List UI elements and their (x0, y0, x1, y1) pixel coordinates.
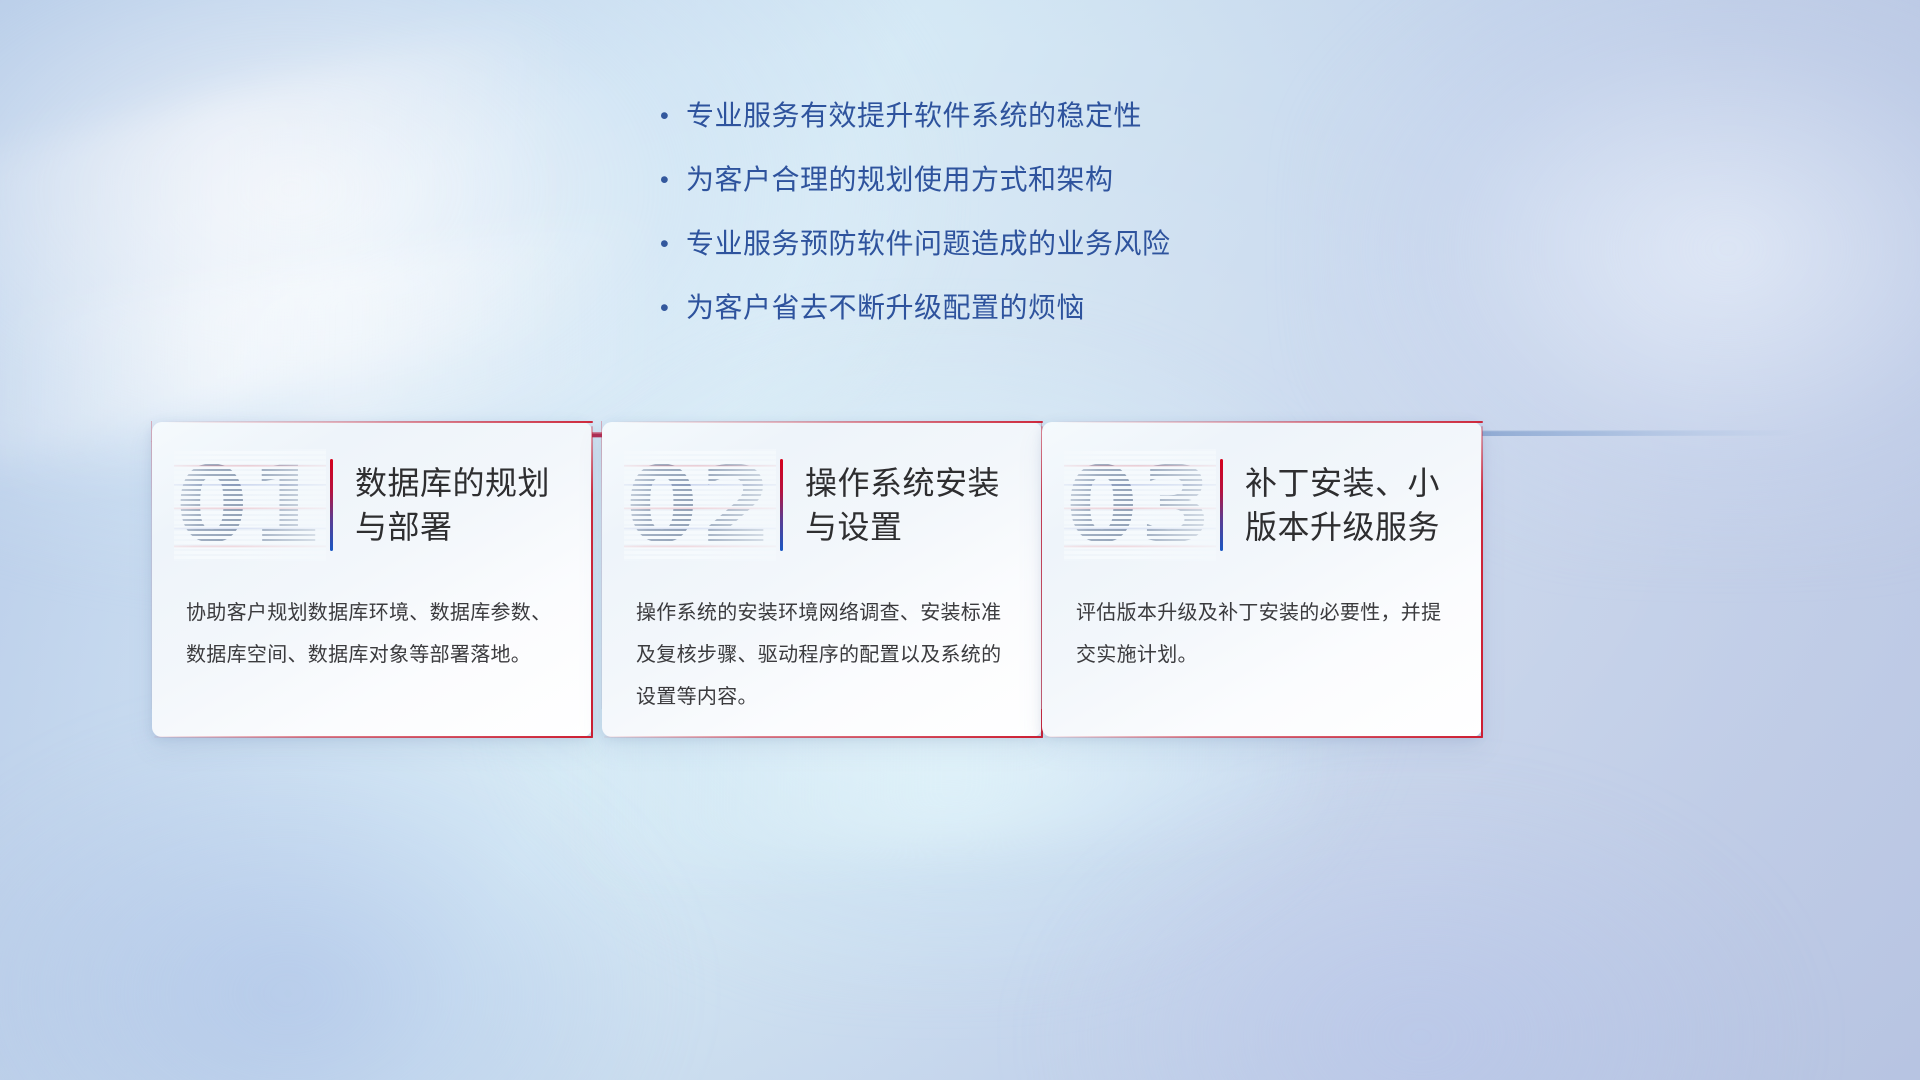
bullet-point-icon: • (660, 226, 686, 262)
card-title: 数据库的规划与部署 (355, 461, 592, 549)
card-title-accent-bar (330, 459, 333, 551)
card-description: 协助客户规划数据库环境、数据库参数、数据库空间、数据库对象等部署落地。 (186, 592, 564, 676)
card-title: 补丁安装、小版本升级服务 (1245, 461, 1482, 549)
card-title-accent-bar (780, 459, 783, 551)
card-border-bottom (1044, 736, 1483, 738)
bullet-point-icon: • (660, 98, 686, 134)
list-item: • 为客户合理的规划使用方式和架构 (660, 162, 1420, 214)
card-border-bottom (604, 736, 1043, 738)
card-description: 评估版本升级及补丁安装的必要性，并提交实施计划。 (1076, 592, 1454, 676)
card-header: 03 补丁安装、小版本升级服务 (1042, 440, 1482, 570)
card-number-badge: 02 (624, 449, 776, 561)
list-item: • 专业服务有效提升软件系统的稳定性 (660, 98, 1420, 150)
list-item: • 专业服务预防软件问题造成的业务风险 (660, 226, 1420, 278)
bullet-point-icon: • (660, 290, 686, 326)
card-header: 02 操作系统安装与设置 (602, 440, 1042, 570)
service-card[interactable]: 01 数据库的规划与部署 协助客户规划数据库环境、数据库参数、数据库空间、数据库… (152, 422, 592, 737)
benefits-bullet-list: • 专业服务有效提升软件系统的稳定性 • 为客户合理的规划使用方式和架构 • 专… (660, 98, 1420, 354)
card-border-top (1052, 421, 1483, 423)
bullet-label: 为客户合理的规划使用方式和架构 (686, 162, 1114, 198)
card-number-label: 02 (624, 449, 776, 561)
card-number-badge: 01 (174, 449, 326, 561)
bullet-label: 专业服务有效提升软件系统的稳定性 (686, 98, 1142, 134)
card-description: 操作系统的安装环境网络调查、安装标准及复核步骤、驱动程序的配置以及系统的设置等内… (636, 592, 1014, 718)
bullet-point-icon: • (660, 162, 686, 198)
service-card[interactable]: 02 操作系统安装与设置 操作系统的安装环境网络调查、安装标准及复核步骤、驱动程… (602, 422, 1042, 737)
bullet-label: 专业服务预防软件问题造成的业务风险 (686, 226, 1171, 262)
slide-canvas: • 专业服务有效提升软件系统的稳定性 • 为客户合理的规划使用方式和架构 • 专… (0, 0, 1920, 1080)
list-item: • 为客户省去不断升级配置的烦恼 (660, 290, 1420, 342)
card-border-top (162, 421, 593, 423)
card-border-bottom (154, 736, 593, 738)
card-number-label: 03 (1064, 449, 1216, 561)
service-card-group: 01 数据库的规划与部署 协助客户规划数据库环境、数据库参数、数据库空间、数据库… (152, 422, 1772, 942)
card-header: 01 数据库的规划与部署 (152, 440, 592, 570)
card-number-label: 01 (174, 449, 326, 561)
card-number-badge: 03 (1064, 449, 1216, 561)
card-title: 操作系统安装与设置 (805, 461, 1042, 549)
bullet-label: 为客户省去不断升级配置的烦恼 (686, 290, 1085, 326)
card-border-top (612, 421, 1043, 423)
service-card[interactable]: 03 补丁安装、小版本升级服务 评估版本升级及补丁安装的必要性，并提交实施计划。 (1042, 422, 1482, 737)
card-title-accent-bar (1220, 459, 1223, 551)
